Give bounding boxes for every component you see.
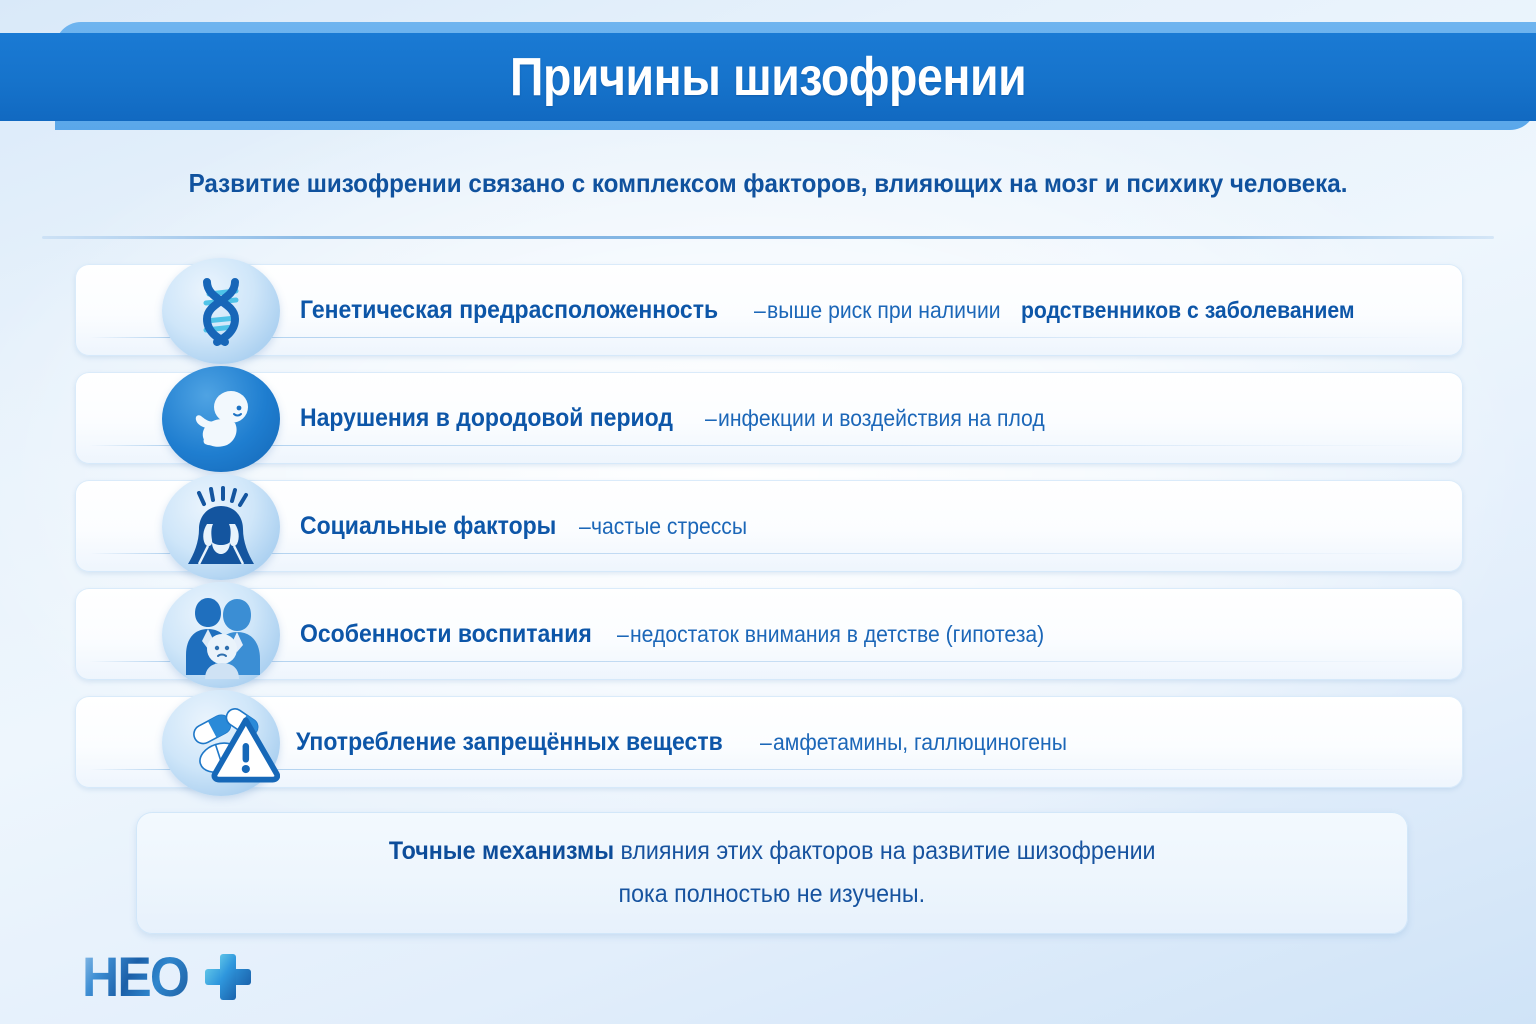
factor-title: Генетическая предрасположенность	[300, 296, 718, 325]
factor-dash: –	[754, 297, 766, 324]
factor-dash: –	[760, 729, 772, 756]
family-icon	[162, 582, 280, 688]
factor-desc: частые стрессы	[591, 513, 747, 540]
infographic-poster: Причины шизофрении Развитие шизофрении с…	[0, 0, 1536, 1024]
list-item[interactable]: Употребление запрещённых веществ – амфет…	[0, 696, 1536, 792]
conclusion-rest: влияния этих факторов на развитие шизофр…	[614, 837, 1155, 865]
divider-line	[42, 236, 1494, 239]
factor-desc: недостаток внимания в детстве (гипотеза)	[630, 621, 1044, 648]
conclusion-box: Точные механизмы влияния этих факторов н…	[136, 812, 1408, 934]
conclusion-line-2: пока полностью не изучены.	[619, 880, 926, 909]
factor-desc: амфетамины, галлюциногены	[773, 729, 1067, 756]
factor-desc-strong: родственников с заболеванием	[1021, 297, 1355, 324]
row-text: Генетическая предрасположенность – выше …	[300, 264, 1446, 356]
factor-title: Особенности воспитания	[300, 620, 592, 649]
brand-logo[interactable]: НЕО	[82, 944, 251, 1009]
list-item[interactable]: Социальные факторы – частые стрессы	[0, 480, 1536, 576]
list-item[interactable]: Генетическая предрасположенность – выше …	[0, 264, 1536, 360]
row-text: Социальные факторы – частые стрессы	[300, 480, 1446, 572]
row-text: Употребление запрещённых веществ – амфет…	[296, 696, 1446, 788]
factor-dash: –	[705, 405, 717, 432]
dna-icon	[162, 258, 280, 364]
logo-text: НЕО	[82, 944, 188, 1009]
stress-head-icon	[162, 474, 280, 580]
factor-dash: –	[617, 621, 629, 648]
header-bar: Причины шизофрении	[0, 33, 1536, 121]
list-item[interactable]: Особенности воспитания – недостаток вним…	[0, 588, 1536, 684]
factors-list: Генетическая предрасположенность – выше …	[0, 264, 1536, 804]
factor-title: Социальные факторы	[300, 512, 556, 541]
list-item[interactable]: Нарушения в дородовой период – инфекции …	[0, 372, 1536, 468]
factor-desc: инфекции и воздействия на плод	[718, 405, 1045, 432]
plus-icon	[205, 954, 251, 1000]
conclusion-strong: Точные механизмы	[389, 837, 614, 865]
factor-dash: –	[579, 513, 591, 540]
factor-title: Употребление запрещённых веществ	[296, 728, 723, 757]
row-text: Особенности воспитания – недостаток вним…	[300, 588, 1446, 680]
pills-warning-icon	[162, 690, 280, 796]
factor-desc: выше риск при наличии	[767, 297, 1001, 324]
conclusion-line-1: Точные механизмы влияния этих факторов н…	[389, 837, 1156, 866]
page-title: Причины шизофрении	[510, 46, 1026, 108]
fetus-icon	[162, 366, 280, 472]
row-text: Нарушения в дородовой период – инфекции …	[300, 372, 1446, 464]
factor-title: Нарушения в дородовой период	[300, 404, 673, 433]
intro-text: Развитие шизофрении связано с комплексом…	[54, 168, 1482, 199]
